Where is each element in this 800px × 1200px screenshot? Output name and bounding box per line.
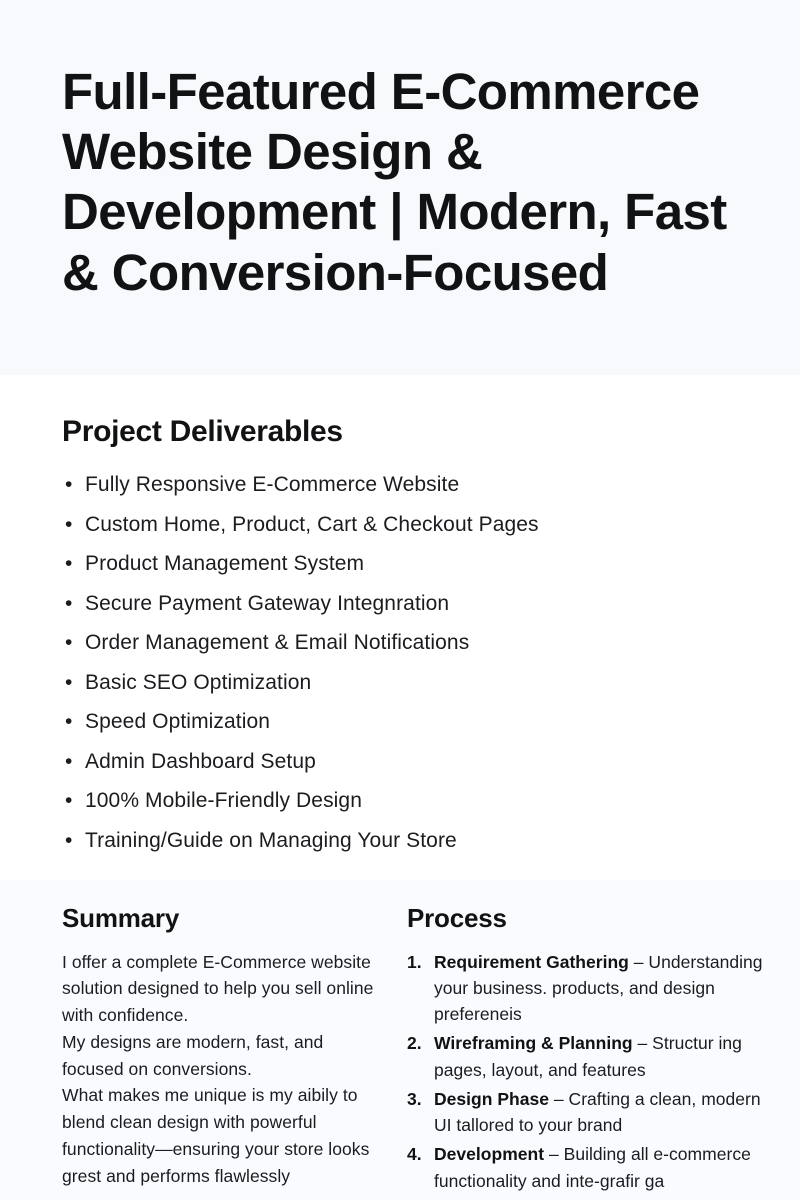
list-item: 3. Design Phase – Crafting a clean, mode… [407, 1086, 774, 1139]
list-item-title: Wireframing & Planning [434, 1033, 633, 1053]
deliverables-list: • Fully Responsive E-Commerce Website • … [62, 474, 740, 851]
summary-paragraph: What makes me unique is my aibily to ble… [62, 1082, 389, 1189]
list-item-label: Training/Guide on Managing Your Store [85, 829, 457, 852]
process-heading: Process [407, 904, 774, 933]
list-item-title: Requirement Gathering [434, 952, 629, 972]
list-item-number: 3. [407, 1086, 422, 1112]
list-item: • Product Management System [62, 553, 740, 574]
bullet-icon: • [65, 632, 72, 653]
hero-section: Full-Featured E-Commerce Website Design … [0, 0, 800, 375]
bullet-icon: • [65, 553, 72, 574]
list-item: 2. Wireframing & Planning – Structur ing… [407, 1030, 774, 1083]
list-item-label: 100% Mobile-Friendly Design [85, 789, 362, 812]
deliverables-heading: Project Deliverables [62, 415, 740, 448]
list-item: • Training/Guide on Managing Your Store [62, 830, 740, 851]
process-column: Process 1. Requirement Gathering – Under… [407, 904, 774, 1200]
list-item: • 100% Mobile-Friendly Design [62, 790, 740, 811]
list-item: • Fully Responsive E-Commerce Website [62, 474, 740, 495]
summary-column: Summary I offer a complete E-Commerce we… [62, 904, 407, 1200]
summary-paragraph: My designs are modern, fast, and focused… [62, 1029, 389, 1083]
list-item: • Secure Payment Gateway Integnration [62, 593, 740, 614]
proposal-page: Full-Featured E-Commerce Website Design … [0, 0, 800, 1200]
list-item: • Speed Optimization [62, 711, 740, 732]
list-item-label: Product Management System [85, 552, 364, 575]
list-item-title: Development [434, 1144, 544, 1164]
bottom-columns-section: Summary I offer a complete E-Commerce we… [0, 880, 800, 1200]
list-item-label: Fully Responsive E-Commerce Website [85, 473, 459, 496]
list-item-label: Basic SEO Optimization [85, 671, 311, 694]
list-item-number: 2. [407, 1030, 422, 1056]
list-item: 4. Development – Building all e-commerce… [407, 1141, 774, 1194]
summary-body: I offer a complete E-Commerce website so… [62, 949, 389, 1190]
list-item: • Custom Home, Product, Cart & Checkout … [62, 514, 740, 535]
bullet-icon: • [65, 593, 72, 614]
bullet-icon: • [65, 830, 72, 851]
bullet-icon: • [65, 711, 72, 732]
list-item-number: 4. [407, 1141, 422, 1167]
list-item-label: Admin Dashboard Setup [85, 750, 316, 773]
summary-heading: Summary [62, 904, 389, 933]
list-item-label: Secure Payment Gateway Integnration [85, 592, 449, 615]
bullet-icon: • [65, 514, 72, 535]
page-title: Full-Featured E-Commerce Website Design … [62, 62, 732, 303]
process-list: 1. Requirement Gathering – Understanding… [407, 949, 774, 1194]
list-item-number: 1. [407, 949, 422, 975]
list-item: • Order Management & Email Notifications [62, 632, 740, 653]
list-item: 1. Requirement Gathering – Understanding… [407, 949, 774, 1028]
bullet-icon: • [65, 474, 72, 495]
list-item: • Basic SEO Optimization [62, 672, 740, 693]
bullet-icon: • [65, 790, 72, 811]
bullet-icon: • [65, 672, 72, 693]
list-item-label: Custom Home, Product, Cart & Checkout Pa… [85, 513, 539, 536]
list-item-title: Design Phase [434, 1089, 549, 1109]
summary-paragraph: I offer a complete E-Commerce website so… [62, 949, 389, 1029]
list-item-label: Order Management & Email Notifications [85, 631, 469, 654]
deliverables-section: Project Deliverables • Fully Responsive … [0, 375, 800, 880]
list-item: • Admin Dashboard Setup [62, 751, 740, 772]
list-item-label: Speed Optimization [85, 710, 270, 733]
bullet-icon: • [65, 751, 72, 772]
